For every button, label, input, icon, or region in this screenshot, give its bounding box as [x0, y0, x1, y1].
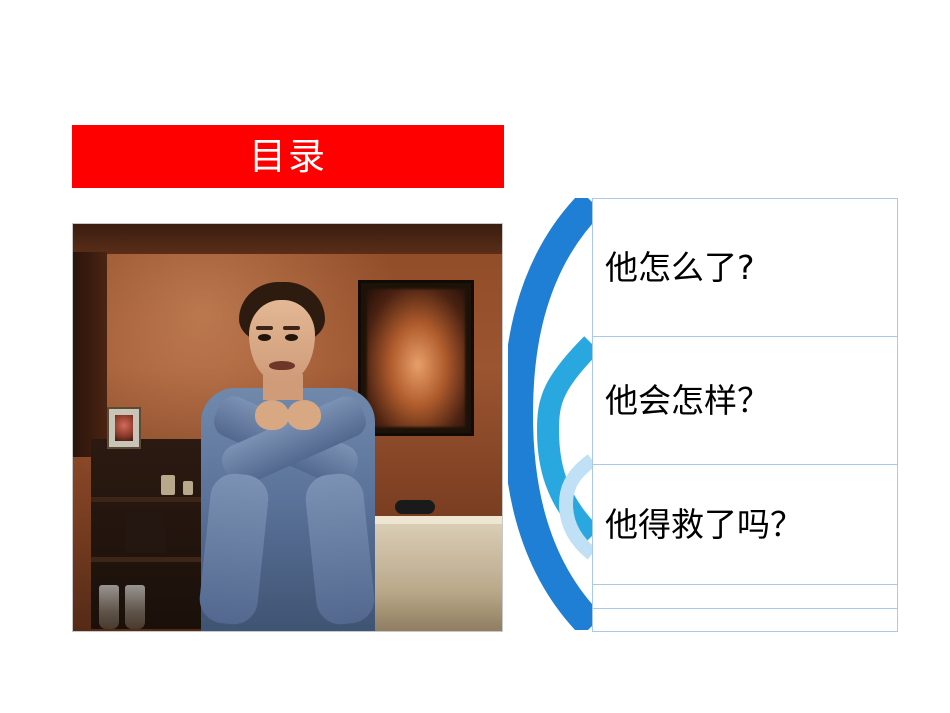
slide-canvas: 目录 [0, 0, 950, 713]
door-frame [73, 252, 107, 457]
wall-art [358, 280, 474, 436]
agenda-diagram: 他怎么了? 他会怎样？ 他得救了吗？ [508, 198, 898, 630]
list-item[interactable]: 他怎么了? [592, 198, 898, 336]
boy-eyebrow [283, 326, 300, 330]
shelf-object [183, 481, 193, 495]
list-item[interactable] [592, 584, 898, 608]
glass [125, 585, 145, 629]
photo-frame [72, 223, 503, 632]
list-item[interactable]: 他会怎样？ [592, 336, 898, 464]
counter-object [395, 500, 435, 514]
boy-mouth [269, 361, 295, 370]
boy-hand-left [255, 400, 289, 430]
glass [99, 585, 119, 629]
wall-art-canvas [367, 289, 465, 427]
page-title: 目录 [249, 138, 327, 175]
agenda-item-label: 他得救了吗？ [593, 508, 803, 541]
title-banner: 目录 [72, 125, 504, 188]
agenda-rows: 他怎么了? 他会怎样？ 他得救了吗？ [592, 198, 898, 632]
boy-eye [285, 334, 298, 341]
photo-image [73, 224, 502, 631]
agenda-item-label: 他会怎样？ [593, 384, 770, 417]
boy-eye [258, 334, 271, 341]
boy-hand-right [287, 400, 321, 430]
list-item[interactable]: 他得救了吗？ [592, 464, 898, 584]
list-item[interactable] [592, 608, 898, 632]
ceiling-beam [73, 224, 502, 254]
shelf-object [125, 513, 165, 553]
photo-frame-small [107, 407, 141, 449]
agenda-item-label: 他怎么了? [593, 251, 755, 284]
boy-eyebrow [256, 326, 273, 330]
shelf-object [161, 475, 175, 495]
